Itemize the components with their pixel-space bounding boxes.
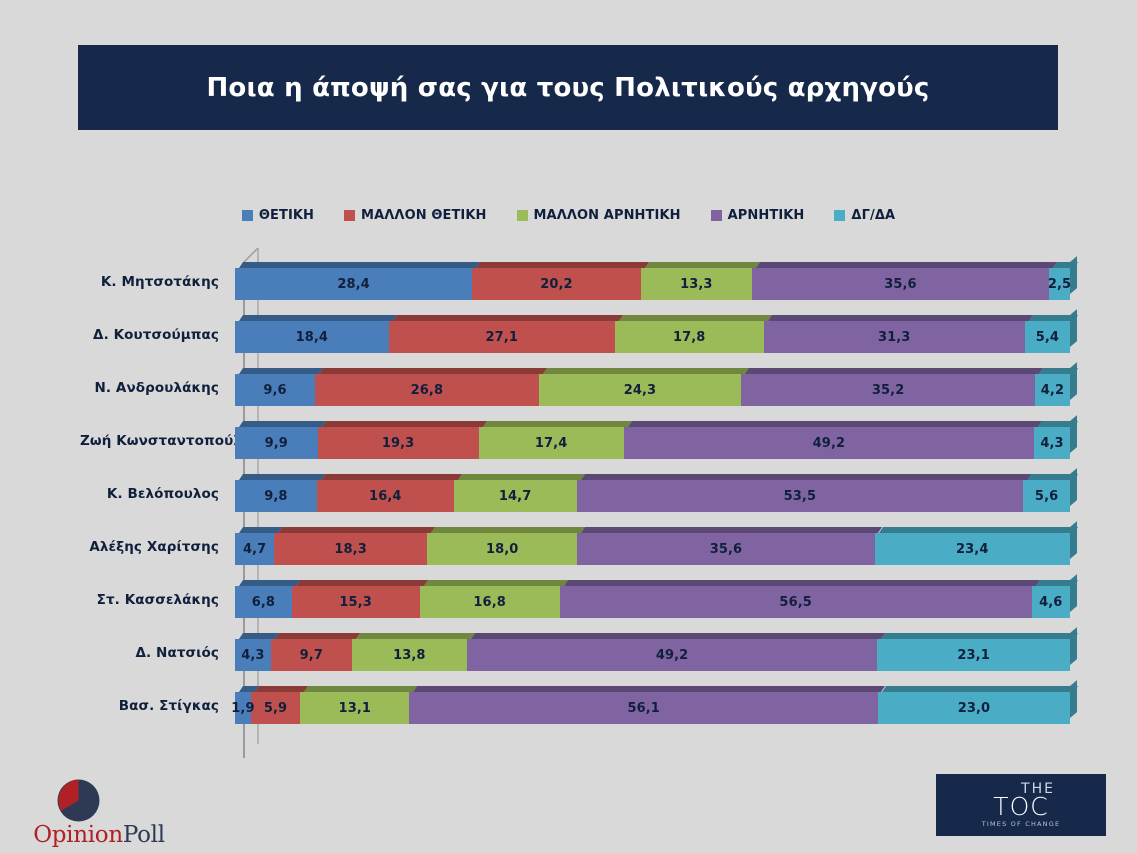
bar-value-label: 5,4: [1036, 330, 1059, 345]
bar-segment-top-face: [756, 262, 1057, 268]
opinionpoll-logo: OpinionPoll: [24, 778, 174, 846]
stacked-bar: 28,420,213,335,62,5: [235, 268, 1070, 300]
chart-legend: ΘΕΤΙΚΗΜΑΛΛΟΝ ΘΕΤΙΚΗΜΑΛΛΟΝ ΑΡΝΗΤΙΚΗΑΡΝΗΤΙ…: [0, 208, 1137, 223]
bar-value-label: 20,2: [540, 277, 572, 292]
bar-segment-μαλλον-αρνητικη[interactable]: 14,7: [454, 480, 577, 512]
chart-row: Δ. Κουτσούμπας18,427,117,831,35,4: [80, 313, 1080, 357]
category-label-5: Αλέξης Χαρίτσης: [80, 539, 235, 555]
bar-segment-top-face: [476, 262, 649, 268]
title-banner: Ποια η άποψή σας για τους Πολιτικούς αρχ…: [78, 45, 1058, 130]
bar-value-label: 56,1: [627, 701, 659, 716]
category-label-7: Δ. Νατσιός: [80, 645, 235, 661]
chart-row: Δ. Νατσιός4,39,713,849,223,1: [80, 631, 1080, 675]
bar-value-label: 9,9: [265, 436, 288, 451]
stacked-bar: 4,718,318,035,623,4: [235, 533, 1070, 565]
bar-segment-μαλλον-θετικη[interactable]: 16,4: [317, 480, 454, 512]
stacked-bar: 18,427,117,831,35,4: [235, 321, 1070, 353]
bar-track: 9,816,414,753,55,6: [235, 472, 1080, 516]
bar-value-label: 4,3: [1040, 436, 1063, 451]
bar-value-label: 56,5: [779, 595, 811, 610]
bar-value-label: 9,6: [263, 383, 286, 398]
bar-value-label: 35,6: [884, 277, 916, 292]
legend-item-1[interactable]: ΜΑΛΛΟΝ ΘΕΤΙΚΗ: [344, 208, 486, 223]
bar-value-label: 13,1: [339, 701, 371, 716]
opinionpoll-word-two: Poll: [123, 822, 165, 848]
bar-segment-right-face: [1070, 521, 1077, 559]
bar-segment-μαλλον-αρνητικη[interactable]: 17,8: [615, 321, 764, 353]
toc-toc-text: TOC: [993, 794, 1048, 820]
bar-segment-μαλλον-θετικη[interactable]: 26,8: [315, 374, 539, 406]
page-title: Ποια η άποψή σας για τους Πολιτικούς αρχ…: [206, 73, 929, 103]
bar-segment-top-face: [239, 262, 480, 268]
toc-logo: THE TOC TIMES OF CHANGE: [936, 774, 1106, 836]
bar-segment-top-face: [881, 633, 1078, 639]
bar-segment-θετικη[interactable]: 6,8: [235, 586, 292, 618]
bar-track: 6,815,316,856,54,6: [235, 578, 1080, 622]
bar-value-label: 9,8: [264, 489, 287, 504]
chart-row: Βασ. Στίγκας1,95,913,156,123,0: [80, 684, 1080, 728]
bar-value-label: 18,0: [486, 542, 518, 557]
bar-segment-top-face: [239, 580, 300, 586]
bar-segment-top-face: [239, 368, 323, 374]
bar-value-label: 23,0: [958, 701, 990, 716]
bar-segment-right-face: [1070, 680, 1077, 718]
chart-row: Κ. Βελόπουλος9,816,414,753,55,6: [80, 472, 1080, 516]
bar-value-label: 14,7: [499, 489, 531, 504]
category-label-3: Ζωή Κωνσταντοπούλου: [80, 433, 235, 449]
bar-value-label: 9,7: [300, 648, 323, 663]
opinionpoll-wordmark: OpinionPoll: [24, 822, 174, 848]
legend-item-2[interactable]: ΜΑΛΛΟΝ ΑΡΝΗΤΙΚΗ: [517, 208, 681, 223]
bar-segment-μαλλον-αρνητικη[interactable]: 13,1: [300, 692, 409, 724]
square-swatch-icon: [834, 210, 845, 221]
bar-value-label: 1,9: [231, 701, 254, 716]
bar-segment-μαλλον-θετικη[interactable]: 15,3: [292, 586, 420, 618]
bar-segment-top-face: [581, 527, 882, 533]
bar-segment-μαλλον-αρνητικη[interactable]: 13,8: [352, 639, 467, 671]
bar-segment-δγ-δα[interactable]: 5,6: [1023, 480, 1070, 512]
bar-value-label: 18,4: [296, 330, 328, 345]
bar-segment-top-face: [745, 368, 1043, 374]
bar-segment-top-face: [431, 527, 585, 533]
bar-track: 9,919,317,449,24,3: [235, 419, 1080, 463]
stacked-bar: 6,815,316,856,54,6: [235, 586, 1070, 618]
stacked-bar: 4,39,713,849,223,1: [235, 639, 1070, 671]
bar-segment-top-face: [413, 686, 885, 692]
bar-value-label: 15,3: [339, 595, 371, 610]
bar-segment-δγ-δα[interactable]: 23,4: [875, 533, 1070, 565]
bar-segment-μαλλον-θετικη[interactable]: 20,2: [472, 268, 641, 300]
bar-segment-top-face: [458, 474, 585, 480]
bar-segment-top-face: [239, 474, 325, 480]
bar-segment-δγ-δα[interactable]: 23,1: [877, 639, 1070, 671]
bar-segment-αρνητικη[interactable]: 56,5: [560, 586, 1032, 618]
opinionpoll-word-one: Opinion: [33, 822, 123, 848]
bar-value-label: 6,8: [252, 595, 275, 610]
chart-row: Αλέξης Χαρίτσης4,718,318,035,623,4: [80, 525, 1080, 569]
bar-track: 18,427,117,831,35,4: [235, 313, 1080, 357]
bar-value-label: 13,3: [680, 277, 712, 292]
bar-value-label: 2,5: [1048, 277, 1071, 292]
bar-value-label: 17,4: [535, 436, 567, 451]
toc-tagline: TIMES OF CHANGE: [982, 821, 1061, 828]
bar-value-label: 23,4: [956, 542, 988, 557]
bar-segment-top-face: [882, 686, 1078, 692]
bar-value-label: 49,2: [813, 436, 845, 451]
bar-value-label: 19,3: [382, 436, 414, 451]
bar-segment-top-face: [645, 262, 760, 268]
legend-label-4: ΔΓ/ΔΑ: [851, 208, 895, 223]
bar-value-label: 13,8: [393, 648, 425, 663]
stacked-bar-chart: Κ. Μητσοτάκης28,420,213,335,62,5Δ. Κουτσ…: [0, 248, 1137, 760]
bar-segment-μαλλον-αρνητικη[interactable]: 17,4: [479, 427, 624, 459]
bar-segment-αρνητικη[interactable]: 31,3: [764, 321, 1025, 353]
bar-value-label: 23,1: [957, 648, 989, 663]
bar-segment-θετικη[interactable]: 18,4: [235, 321, 389, 353]
bar-value-label: 35,6: [710, 542, 742, 557]
bar-track: 4,39,713,849,223,1: [235, 631, 1080, 675]
category-label-1: Δ. Κουτσούμπας: [80, 327, 235, 343]
bar-segment-αρνητικη[interactable]: 53,5: [577, 480, 1024, 512]
bar-segment-top-face: [356, 633, 475, 639]
bar-segment-right-face: [1070, 309, 1077, 347]
legend-item-4[interactable]: ΔΓ/ΔΑ: [834, 208, 895, 223]
bar-segment-θετικη[interactable]: 9,8: [235, 480, 317, 512]
bar-value-label: 4,3: [241, 648, 264, 663]
bar-segment-αρνητικη[interactable]: 35,6: [577, 533, 874, 565]
bar-segment-θετικη[interactable]: 28,4: [235, 268, 472, 300]
bar-segment-top-face: [322, 421, 487, 427]
bar-segment-δγ-δα[interactable]: 4,2: [1035, 374, 1070, 406]
bar-segment-right-face: [1070, 362, 1077, 400]
bar-segment-μαλλον-αρνητικη[interactable]: 18,0: [427, 533, 577, 565]
bar-segment-top-face: [321, 474, 462, 480]
bar-segment-αρνητικη[interactable]: 56,1: [409, 692, 877, 724]
bar-segment-top-face: [564, 580, 1040, 586]
bar-segment-right-face: [1070, 627, 1077, 665]
bar-segment-δγ-δα[interactable]: 4,6: [1032, 586, 1070, 618]
stacked-bar: 1,95,913,156,123,0: [235, 692, 1070, 724]
bar-value-label: 28,4: [337, 277, 369, 292]
bar-segment-θετικη[interactable]: 4,3: [235, 639, 271, 671]
chart-row: Ζωή Κωνσταντοπούλου9,919,317,449,24,3: [80, 419, 1080, 463]
bar-segment-right-face: [1070, 468, 1077, 506]
square-swatch-icon: [711, 210, 722, 221]
bar-segment-δγ-δα[interactable]: 23,0: [878, 692, 1070, 724]
bar-value-label: 27,1: [486, 330, 518, 345]
bar-segment-αρνητικη[interactable]: 35,6: [752, 268, 1049, 300]
bar-value-label: 18,3: [334, 542, 366, 557]
legend-label-0: ΘΕΤΙΚΗ: [259, 208, 314, 223]
legend-item-0[interactable]: ΘΕΤΙΚΗ: [242, 208, 314, 223]
category-label-6: Στ. Κασσελάκης: [80, 592, 235, 608]
bar-segment-top-face: [628, 421, 1042, 427]
bar-segment-θετικη[interactable]: 9,6: [235, 374, 315, 406]
bar-segment-top-face: [879, 527, 1078, 533]
bar-value-label: 4,7: [243, 542, 266, 557]
chart-row: Στ. Κασσελάκης6,815,316,856,54,6: [80, 578, 1080, 622]
square-swatch-icon: [344, 210, 355, 221]
bar-segment-μαλλον-θετικη[interactable]: 5,9: [251, 692, 300, 724]
bar-value-label: 53,5: [784, 489, 816, 504]
bar-value-label: 49,2: [656, 648, 688, 663]
bar-track: 9,626,824,335,24,2: [235, 366, 1080, 410]
bar-value-label: 16,8: [473, 595, 505, 610]
square-swatch-icon: [517, 210, 528, 221]
bar-segment-μαλλον-θετικη[interactable]: 27,1: [389, 321, 615, 353]
bar-segment-μαλλον-θετικη[interactable]: 18,3: [274, 533, 427, 565]
bar-track: 4,718,318,035,623,4: [235, 525, 1080, 569]
bar-value-label: 4,6: [1039, 595, 1062, 610]
bar-segment-top-face: [296, 580, 428, 586]
bar-segment-αρνητικη[interactable]: 49,2: [624, 427, 1034, 459]
bar-segment-δγ-δα[interactable]: 4,3: [1034, 427, 1070, 459]
pie-chart-icon: [56, 778, 101, 823]
bar-segment-δγ-δα[interactable]: 5,4: [1025, 321, 1070, 353]
stacked-bar: 9,626,824,335,24,2: [235, 374, 1070, 406]
chart-row: Κ. Μητσοτάκης28,420,213,335,62,5: [80, 260, 1080, 304]
bar-value-label: 24,3: [624, 383, 656, 398]
bar-segment-top-face: [239, 315, 397, 321]
legend-label-3: ΑΡΝΗΤΙΚΗ: [728, 208, 805, 223]
bar-segment-top-face: [619, 315, 772, 321]
bar-segment-top-face: [768, 315, 1033, 321]
bar-value-label: 35,2: [872, 383, 904, 398]
legend-label-1: ΜΑΛΛΟΝ ΘΕΤΙΚΗ: [361, 208, 486, 223]
square-swatch-icon: [242, 210, 253, 221]
legend-label-2: ΜΑΛΛΟΝ ΑΡΝΗΤΙΚΗ: [534, 208, 681, 223]
bar-segment-μαλλον-αρνητικη[interactable]: 13,3: [641, 268, 752, 300]
bar-segment-top-face: [581, 474, 1032, 480]
bar-segment-right-face: [1070, 415, 1077, 453]
bar-segment-μαλλον-θετικη[interactable]: 9,7: [271, 639, 352, 671]
bar-segment-top-face: [278, 527, 435, 533]
bar-segment-top-face: [471, 633, 885, 639]
legend-item-3[interactable]: ΑΡΝΗΤΙΚΗ: [711, 208, 805, 223]
toc-logo-inner: THE TOC TIMES OF CHANGE: [936, 774, 1106, 836]
bar-segment-top-face: [424, 580, 568, 586]
bar-value-label: 16,4: [369, 489, 401, 504]
bar-segment-right-face: [1070, 574, 1077, 612]
bar-segment-top-face: [543, 368, 750, 374]
bar-segment-δγ-δα[interactable]: 2,5: [1049, 268, 1070, 300]
bar-value-label: 26,8: [411, 383, 443, 398]
stacked-bar: 9,919,317,449,24,3: [235, 427, 1070, 459]
bar-segment-αρνητικη[interactable]: 49,2: [467, 639, 877, 671]
category-label-0: Κ. Μητσοτάκης: [80, 274, 235, 290]
bar-value-label: 31,3: [878, 330, 910, 345]
bar-value-label: 4,2: [1041, 383, 1064, 398]
bar-segment-θετικη[interactable]: 4,7: [235, 533, 274, 565]
bar-segment-μαλλον-θετικη[interactable]: 19,3: [318, 427, 479, 459]
bar-segment-θετικη[interactable]: 9,9: [235, 427, 318, 459]
bar-segment-top-face: [304, 686, 417, 692]
bar-track: 1,95,913,156,123,0: [235, 684, 1080, 728]
bar-segment-top-face: [483, 421, 632, 427]
bar-segment-αρνητικη[interactable]: 35,2: [741, 374, 1035, 406]
bar-segment-μαλλον-αρνητικη[interactable]: 24,3: [539, 374, 742, 406]
bar-segment-top-face: [393, 315, 623, 321]
bar-segment-μαλλον-αρνητικη[interactable]: 16,8: [420, 586, 560, 618]
category-label-2: Ν. Ανδρουλάκης: [80, 380, 235, 396]
bar-segment-top-face: [319, 368, 547, 374]
category-label-4: Κ. Βελόπουλος: [80, 486, 235, 502]
bar-track: 28,420,213,335,62,5: [235, 260, 1080, 304]
bar-segment-θετικη[interactable]: 1,9: [235, 692, 251, 724]
stacked-bar: 9,816,414,753,55,6: [235, 480, 1070, 512]
bar-segment-top-face: [275, 633, 360, 639]
bar-segment-top-face: [239, 421, 326, 427]
chart-row: Ν. Ανδρουλάκης9,626,824,335,24,2: [80, 366, 1080, 410]
bar-value-label: 5,9: [264, 701, 287, 716]
category-label-8: Βασ. Στίγκας: [80, 698, 235, 714]
bar-value-label: 17,8: [673, 330, 705, 345]
bar-value-label: 5,6: [1035, 489, 1058, 504]
